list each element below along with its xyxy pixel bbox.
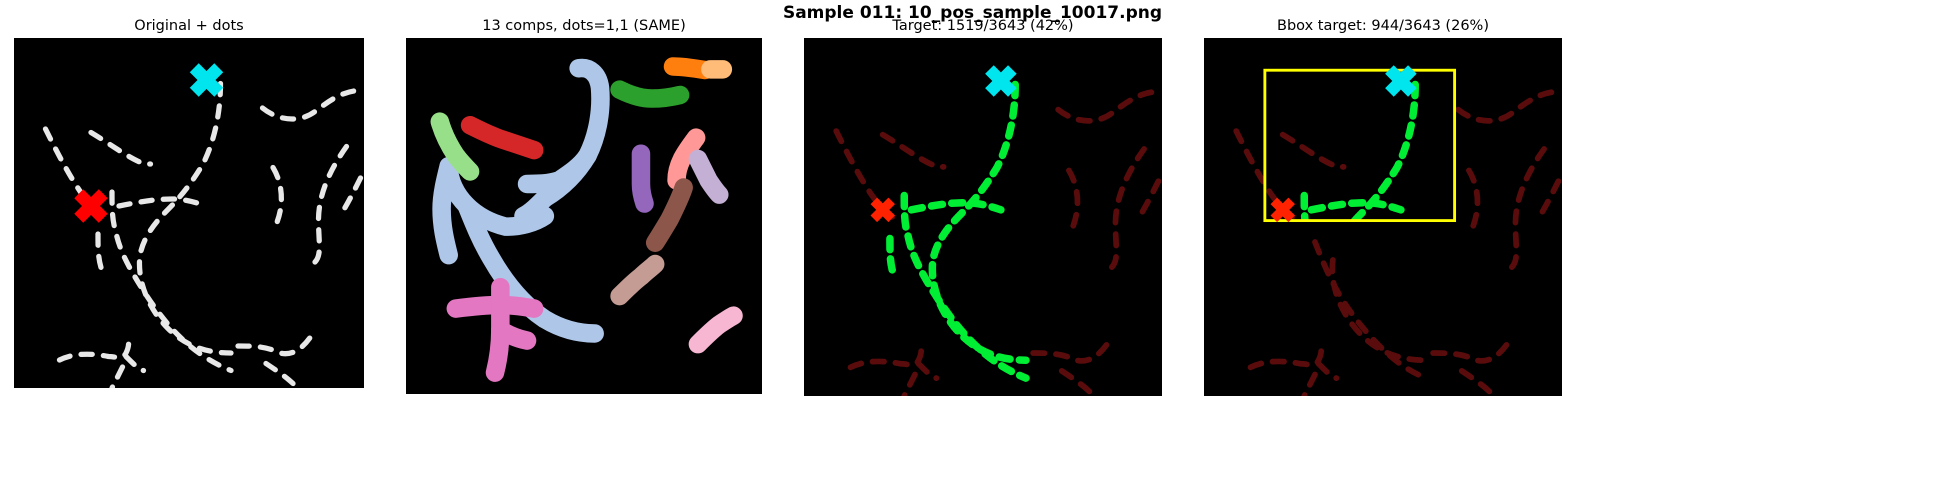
- canvas-original: [14, 38, 364, 388]
- cyan-x-marker: [989, 70, 1012, 93]
- figure-root: Sample 011: 10_pos_sample_10017.png Orig…: [0, 0, 1945, 495]
- panel-title-components: 13 comps, dots=1,1 (SAME): [406, 18, 762, 34]
- panel-target-mask: Target: 1519/3643 (42%): [804, 38, 1162, 396]
- panel-title-original: Original + dots: [14, 18, 364, 34]
- panel-background: [1204, 38, 1562, 396]
- panel-title-bbox-target: Bbox target: 944/3643 (26%): [1204, 18, 1562, 34]
- red-x-marker: [1274, 201, 1292, 219]
- panel-bbox-target: Bbox target: 944/3643 (26%): [1204, 38, 1562, 396]
- cyan-x-marker: [1389, 70, 1412, 93]
- panel-connected-components: 13 comps, dots=1,1 (SAME): [406, 38, 762, 394]
- panel-title-target: Target: 1519/3643 (42%): [804, 18, 1162, 34]
- canvas-components: [406, 38, 762, 394]
- canvas-bbox-target: [1204, 38, 1562, 396]
- panel-background: [804, 38, 1162, 396]
- red-x-marker: [79, 194, 104, 219]
- cyan-x-marker: [194, 68, 219, 93]
- canvas-target: [804, 38, 1162, 396]
- component-orange: [673, 66, 705, 70]
- panel-original-plus-dots: Original + dots: [14, 38, 364, 388]
- panel-background: [14, 38, 364, 388]
- component-purple: [641, 154, 645, 204]
- red-x-marker: [874, 201, 892, 219]
- component-green: [620, 90, 681, 99]
